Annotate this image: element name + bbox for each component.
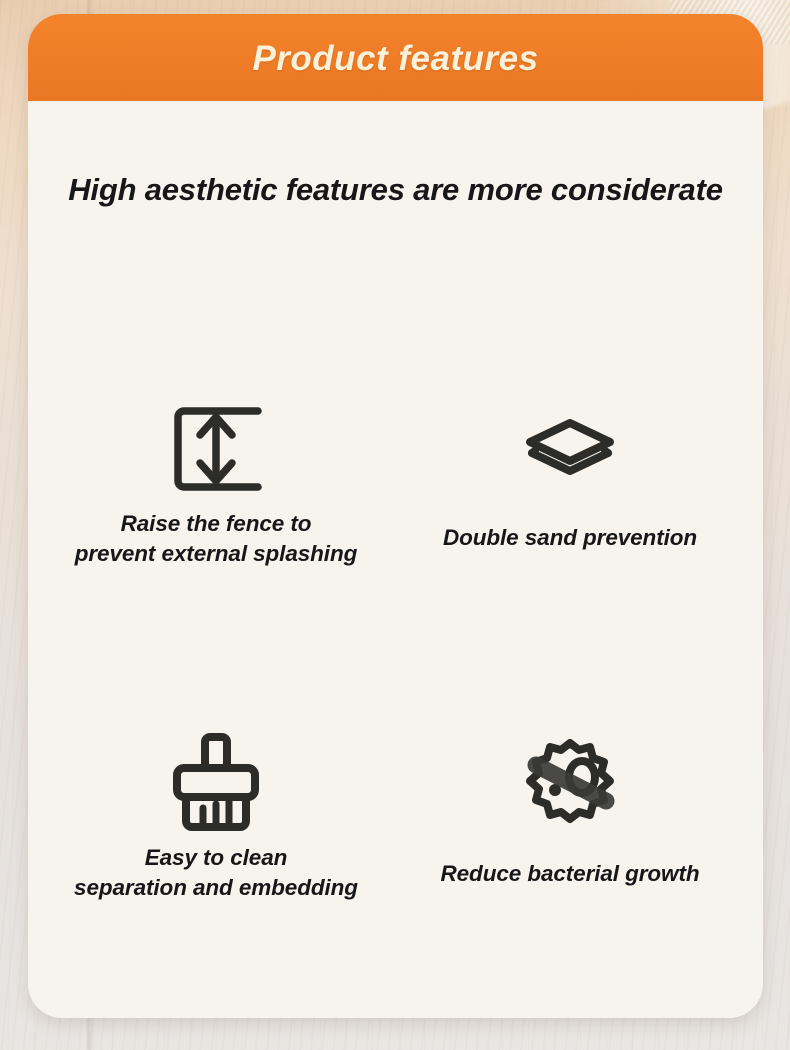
- card-body: High aesthetic features are more conside…: [28, 101, 763, 1018]
- feature-label: Reduce bacterial growth: [390, 859, 750, 889]
- layers-icon: [390, 389, 750, 507]
- card-header: Product features: [28, 14, 763, 101]
- feature-label: Easy to clean separation and embedding: [36, 843, 396, 903]
- feature-item-raise-fence: Raise the fence to prevent external spla…: [36, 389, 396, 569]
- feature-item-easy-to-clean: Easy to clean separation and embedding: [36, 723, 396, 903]
- feature-item-reduce-bacteria: Reduce bacterial growth: [390, 723, 750, 889]
- feature-label: Double sand prevention: [390, 523, 750, 553]
- page-title: Product features: [252, 39, 538, 79]
- feature-label: Raise the fence to prevent external spla…: [36, 509, 396, 569]
- feature-item-double-sand-prevention: Double sand prevention: [390, 389, 750, 553]
- anti-bacteria-icon: [390, 723, 750, 843]
- card-subtitle: High aesthetic features are more conside…: [28, 172, 763, 208]
- product-features-card: Product features High aesthetic features…: [28, 14, 763, 1018]
- cleaning-brush-icon: [36, 723, 396, 843]
- vertical-resize-bracket-icon: [36, 389, 396, 509]
